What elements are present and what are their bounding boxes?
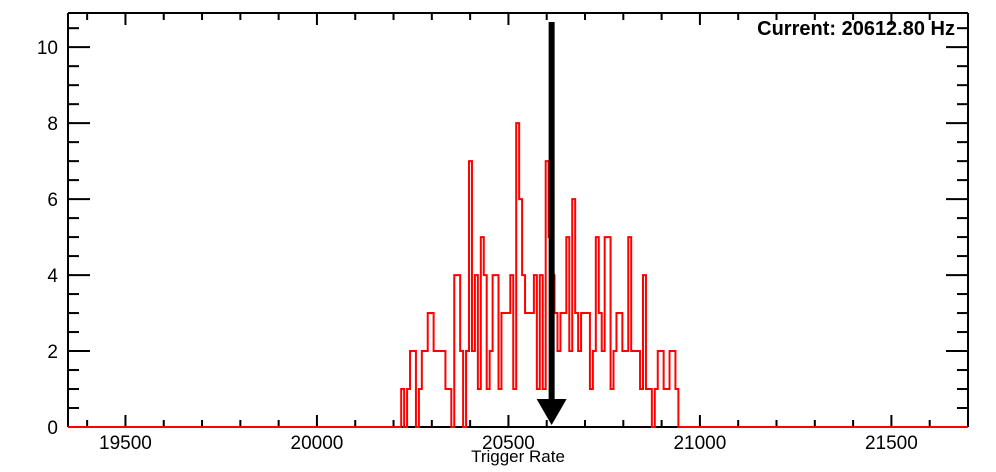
x-axis-title: Trigger Rate [471,447,565,466]
x-axis-tick-label: 19500 [99,433,152,454]
histogram-plot: 1950020000205002100021500 0246810 Trigge… [0,0,996,472]
plot-background [0,0,996,472]
y-axis-tick-label: 8 [47,114,58,135]
status-text: Current: 20612.80 Hz [757,18,955,40]
root-canvas: 1950020000205002100021500 0246810 Trigge… [0,0,996,472]
y-axis-tick-label: 2 [47,342,58,363]
y-axis-tick-label: 4 [47,266,58,287]
x-axis-tick-label: 21500 [865,433,918,454]
y-axis-tick-label: 10 [37,38,58,59]
y-axis-tick-label: 6 [47,190,58,211]
x-axis-tick-label: 20000 [291,433,344,454]
x-axis-tick-label: 21000 [673,433,726,454]
y-axis-tick-label: 0 [47,418,58,439]
